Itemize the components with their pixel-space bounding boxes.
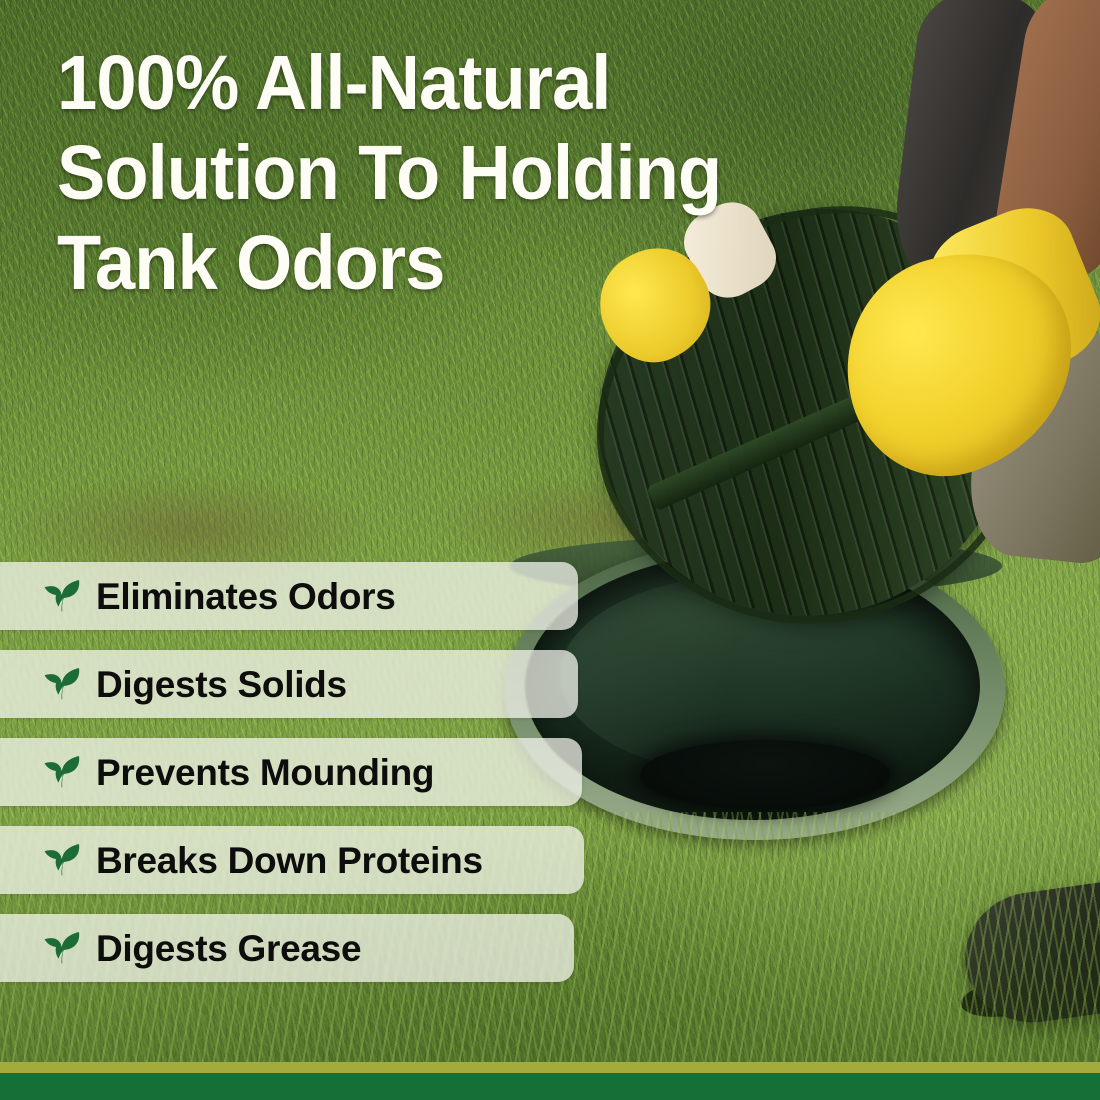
tank-liquid-surface <box>640 740 890 810</box>
feature-label: Digests Solids <box>96 666 347 703</box>
leaf-sprout-icon <box>44 667 80 701</box>
promotional-poster: 100% All-Natural Solution To Holding Tan… <box>0 0 1100 1100</box>
feature-item-digests-grease[interactable]: Digests Grease <box>0 914 574 982</box>
leaf-sprout-icon <box>44 843 80 877</box>
feature-item-prevents-mounding[interactable]: Prevents Mounding <box>0 738 582 806</box>
footer-brand-bar <box>0 1073 1100 1100</box>
feature-label: Eliminates Odors <box>96 578 396 615</box>
feature-item-breaks-down-proteins[interactable]: Breaks Down Proteins <box>0 826 584 894</box>
footer-accent-bar <box>0 1062 1100 1073</box>
leaf-sprout-icon <box>44 931 80 965</box>
feature-item-eliminates-odors[interactable]: Eliminates Odors <box>0 562 578 630</box>
feature-label: Prevents Mounding <box>96 754 434 791</box>
feature-label: Digests Grease <box>96 930 361 967</box>
leaf-sprout-icon <box>44 755 80 789</box>
feature-label: Breaks Down Proteins <box>96 842 483 879</box>
headline: 100% All-Natural Solution To Holding Tan… <box>57 38 903 308</box>
leaf-sprout-icon <box>44 579 80 613</box>
feature-item-digests-solids[interactable]: Digests Solids <box>0 650 578 718</box>
feature-list: Eliminates Odors Digests Solids Prevents… <box>0 562 584 1002</box>
